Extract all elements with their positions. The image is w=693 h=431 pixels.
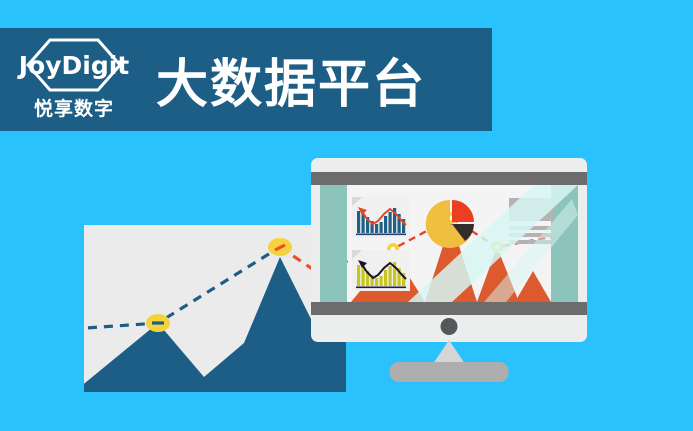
dashed-line-blue bbox=[84, 247, 280, 329]
page-title: 大数据平台 bbox=[156, 42, 426, 117]
screen-side-band-right bbox=[551, 185, 578, 302]
blue-bar-line-svg bbox=[352, 197, 410, 238]
monitor-top-band bbox=[311, 172, 587, 185]
orange-mountain-small bbox=[515, 271, 551, 302]
image-placeholder-block bbox=[509, 198, 553, 221]
screen-side-band-left bbox=[320, 185, 347, 302]
folded-corner bbox=[352, 197, 362, 206]
monitor-power-button[interactable] bbox=[441, 318, 458, 335]
logo-wordmark: JoyDigit bbox=[19, 53, 130, 78]
olive-bar-line-card bbox=[352, 250, 410, 291]
folded-corner bbox=[352, 250, 362, 259]
text-line-2 bbox=[509, 233, 553, 237]
olive-bar-line-svg bbox=[352, 250, 410, 291]
text-line-3 bbox=[509, 240, 553, 244]
desktop-monitor bbox=[311, 158, 587, 342]
hexagon-icon: JoyDigit bbox=[19, 39, 129, 92]
logo-subtitle: 悦享数字 bbox=[34, 94, 114, 121]
header-banner: JoyDigit 悦享数字 大数据平台 bbox=[0, 28, 492, 131]
blue-bar-line-card bbox=[352, 197, 410, 238]
blue-mountain-chart bbox=[84, 225, 346, 392]
monitor-bottom-band bbox=[311, 302, 587, 315]
pie-chart bbox=[424, 198, 476, 250]
mountain-line-chart-panel bbox=[84, 225, 346, 392]
monitor-screen bbox=[320, 185, 578, 302]
pie-slice-b bbox=[452, 200, 474, 222]
infographic-canvas: JoyDigit 悦享数字 大数据平台 bbox=[0, 0, 693, 431]
axis-line bbox=[356, 287, 406, 289]
monitor-stand-neck bbox=[433, 340, 465, 364]
axis-line bbox=[356, 234, 406, 236]
brand-logo: JoyDigit 悦享数字 bbox=[14, 39, 134, 121]
text-line-1 bbox=[509, 226, 553, 230]
pie-chart-svg bbox=[424, 198, 476, 250]
data-marker-center bbox=[495, 245, 499, 249]
monitor-stand-base bbox=[390, 362, 509, 382]
